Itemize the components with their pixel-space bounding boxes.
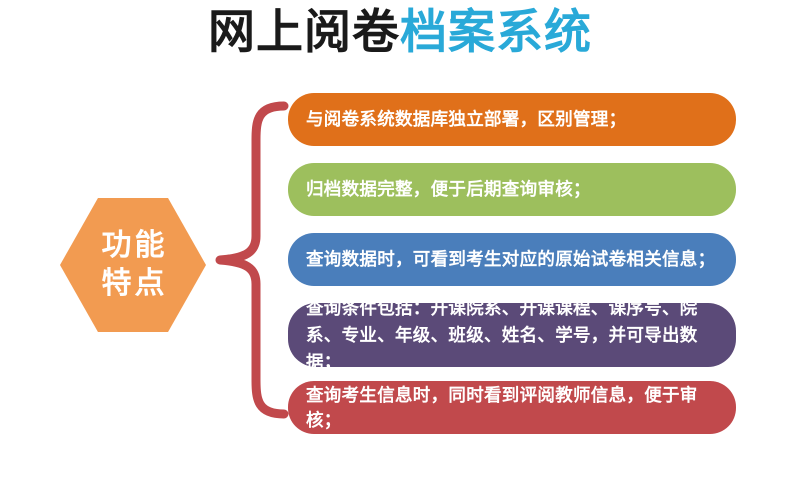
feature-bar-1-text: 与阅卷系统数据库独立部署，区别管理；	[306, 107, 718, 132]
hexagon-label-line2: 特点	[99, 265, 168, 303]
page-title: 网上阅卷档案系统	[0, 2, 800, 62]
hexagon-shape: 功能 特点	[60, 198, 206, 332]
feature-bar-3-text: 查询数据时，可看到考生对应的原始试卷相关信息；	[306, 247, 718, 272]
feature-bar-2[interactable]: 归档数据完整，便于后期查询审核；	[288, 163, 736, 216]
feature-bar-5[interactable]: 查询考生信息时，同时看到评阅教师信息，便于审核；	[288, 381, 736, 434]
feature-bar-3[interactable]: 查询数据时，可看到考生对应的原始试卷相关信息；	[288, 233, 736, 286]
feature-bar-2-text: 归档数据完整，便于后期查询审核；	[306, 177, 718, 202]
feature-bar-5-text: 查询考生信息时，同时看到评阅教师信息，便于审核；	[306, 383, 718, 433]
feature-bar-4-text: 查询条件包括：开课院系、开课课程、课序号、院系、专业、年级、班级、姓名、学号，并…	[306, 295, 718, 376]
feature-bar-1[interactable]: 与阅卷系统数据库独立部署，区别管理；	[288, 93, 736, 146]
page-title-primary: 网上阅卷	[208, 5, 400, 58]
page-title-accent: 档案系统	[400, 5, 592, 58]
hexagon-label-line1: 功能	[99, 227, 168, 265]
curly-brace-icon	[212, 100, 290, 420]
slide-canvas: 网上阅卷档案系统 功能 特点 与阅卷系统数据库独立部署，区别管理； 归档数据完整…	[0, 0, 800, 496]
feature-bar-4[interactable]: 查询条件包括：开课院系、开课课程、课序号、院系、专业、年级、班级、姓名、学号，并…	[288, 303, 736, 367]
hexagon-badge: 功能 特点	[60, 198, 206, 332]
